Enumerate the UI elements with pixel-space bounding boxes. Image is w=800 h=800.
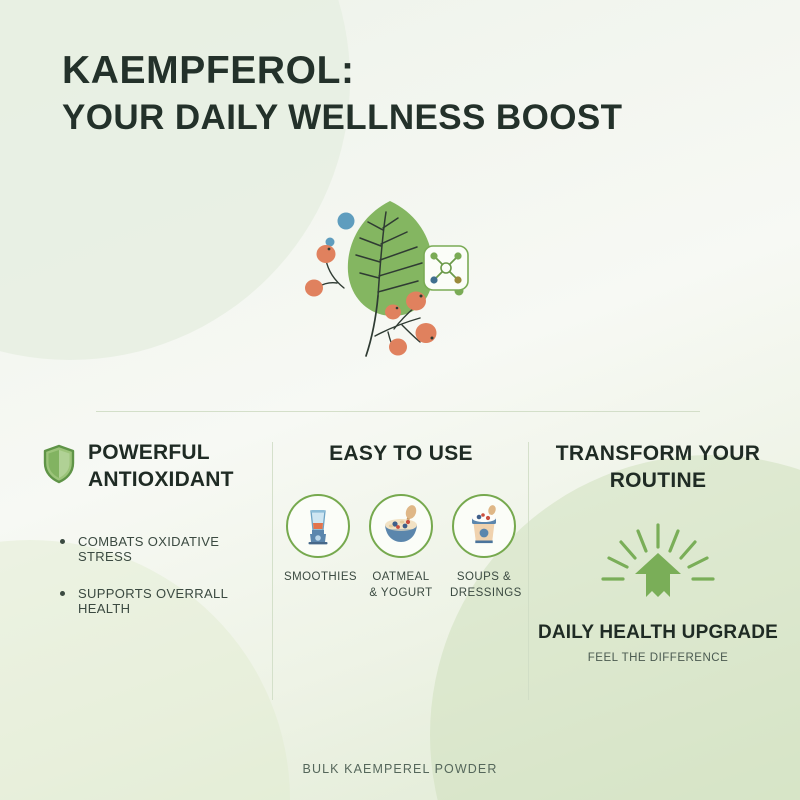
horizontal-divider [96,411,700,412]
benefit-list: COMBATS OXIDATIVE STRESS SUPPORTS OVERRA… [60,534,267,616]
right-column-subtext: DAILY HEALTH UPGRADE FEEL THE DIFFERENCE [536,621,780,665]
leaf-illustration-svg [290,188,520,378]
upward-arrow-burst-icon [593,517,723,605]
yogurt-cup-icon [462,504,506,548]
usage-icon-row: SMOOTHIES [278,494,524,601]
vertical-divider-left [272,442,273,700]
usage-label-smoothies: SMOOTHIES [284,570,352,586]
column-easy-to-use: EASY TO USE SMOOTHIES [278,440,524,601]
page-title: KAEMPFEROL: YOUR DAILY WELLNESS BOOST [62,50,762,138]
usage-item-smoothies[interactable]: SMOOTHIES [284,494,352,601]
oatmeal-bowl-icon [378,503,424,549]
usage-label-oatmeal: OATMEAL& YOGURT [367,570,435,601]
hero-illustration [290,188,520,378]
list-item: COMBATS OXIDATIVE STRESS [60,534,267,564]
usage-label-soups: SOUPS &DRESSINGS [450,570,518,601]
footer-brand: BULK KAEMPEREL POWDER [0,762,800,776]
upward-arrow-burst-wrapper [536,517,780,605]
berry-sprig-left [305,245,344,297]
blender-icon-circle [286,494,350,558]
column-powerful-antioxidant: POWERFUL ANTIOXIDANT COMBATS OXIDATIVE S… [42,440,267,638]
column-transform-routine: TRANSFORM YOUR ROUTINE DAILY HEALTH U [536,440,780,664]
right-column-heading: TRANSFORM YOUR ROUTINE [536,440,780,495]
shield-icon [42,444,76,489]
accent-dot-blue-large [338,213,355,230]
title-primary: KAEMPFEROL: [62,50,762,92]
yogurt-icon-circle [452,494,516,558]
oatmeal-icon-circle [369,494,433,558]
list-item: SUPPORTS OVERRALL HEALTH [60,586,267,616]
molecule-icon [424,246,468,290]
left-column-heading: POWERFUL ANTIOXIDANT [88,440,267,494]
vertical-divider-right [528,442,529,700]
usage-item-oatmeal[interactable]: OATMEAL& YOGURT [367,494,435,601]
infographic-canvas: KAEMPFEROL: YOUR DAILY WELLNESS BOOST [0,0,800,800]
left-column-header: POWERFUL ANTIOXIDANT [42,440,267,494]
blender-icon [296,504,340,548]
right-column-subheading: DAILY HEALTH UPGRADE [536,621,780,645]
middle-column-heading: EASY TO USE [278,442,524,466]
title-secondary: YOUR DAILY WELLNESS BOOST [62,98,762,138]
right-column-caption: FEEL THE DIFFERENCE [536,652,780,664]
usage-item-soups[interactable]: SOUPS &DRESSINGS [450,494,518,601]
